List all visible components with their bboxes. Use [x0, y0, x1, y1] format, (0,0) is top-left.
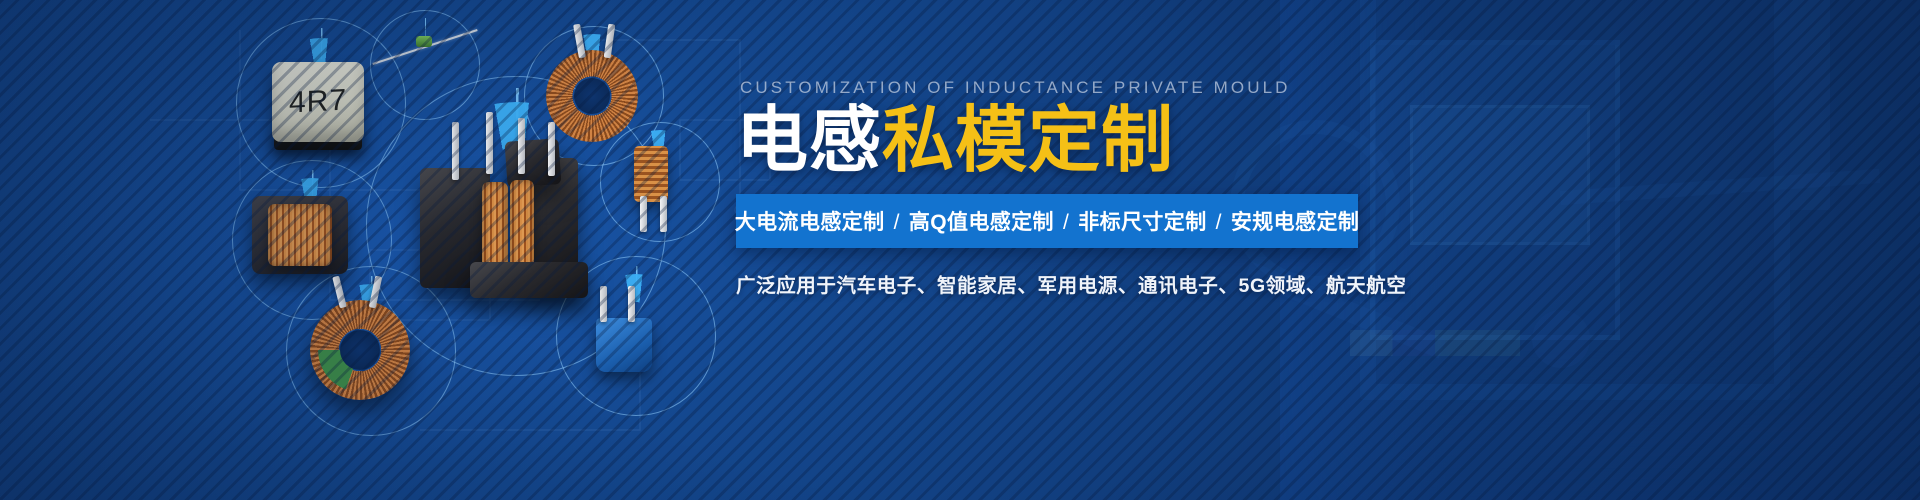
- page-title: 电感私模定制: [736, 102, 1866, 180]
- feature-item-3[interactable]: 安规电感定制: [1231, 211, 1359, 234]
- feature-separator-0: /: [885, 211, 909, 234]
- english-subtitle: CUSTOMIZATION OF INDUCTANCE PRIVATE MOUL…: [740, 78, 1866, 98]
- headline-white-part: 电感: [736, 98, 882, 182]
- feature-item-2[interactable]: 非标尺寸定制: [1078, 211, 1206, 234]
- application-description: 广泛应用于汽车电子、智能家居、军用电源、通讯电子、5G领域、航天航空: [736, 269, 1866, 298]
- feature-list: 大电流电感定制/高Q值电感定制/非标尺寸定制/安规电感定制: [735, 206, 1360, 236]
- feature-item-1[interactable]: 高Q值电感定制: [909, 211, 1054, 234]
- feature-separator-2: /: [1207, 211, 1231, 234]
- headline-gold-part: 私模定制: [882, 98, 1174, 182]
- banner-content: CUSTOMIZATION OF INDUCTANCE PRIVATE MOUL…: [736, 78, 1866, 317]
- feature-item-0[interactable]: 大电流电感定制: [735, 211, 885, 234]
- feature-separator-1: /: [1054, 211, 1078, 234]
- hero-banner: 4R7 CUSTOMIZATION OF INDUCTANCE PRIVATE …: [0, 0, 1920, 500]
- feature-bar: 大电流电感定制/高Q值电感定制/非标尺寸定制/安规电感定制: [736, 194, 1358, 248]
